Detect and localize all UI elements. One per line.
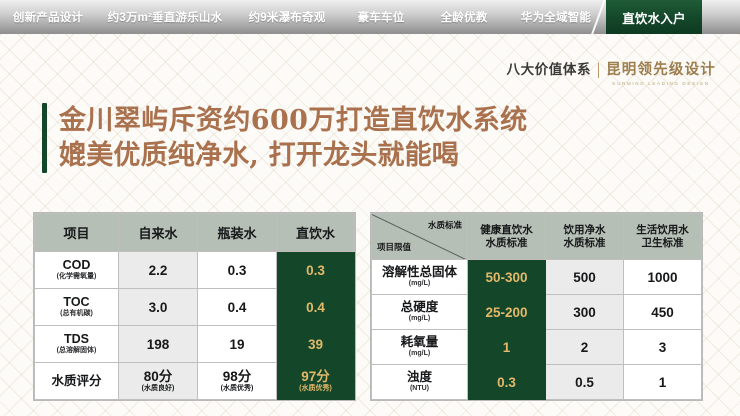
row-label-score: 水质评分 [35,363,119,400]
cell-value: 39 [308,337,323,352]
cell-value: 98分 [223,369,252,384]
row-label-sub: (mg/L) [374,279,465,289]
headline-line-1: 金川翠屿斥资约600万打造直饮水系统 [59,103,528,138]
cell-turbidity-healthy: 0.3 [468,365,546,400]
header-line-1: 健康直饮水 [470,224,543,237]
brand-value-system-label: 八大价值体系 [506,62,591,78]
brand-design-block: 昆明领先级设计 KUNMING LEADING DESIGN [606,62,716,86]
table-row: 耗氧量 (mg/L) 1 2 3 [372,330,702,365]
row-label-oxygen-consumption: 耗氧量 (mg/L) [372,330,468,365]
tab-label: 创新产品设计 [13,9,83,25]
tab-quanling-youjiao[interactable]: 全龄优教 [422,0,506,34]
cell-cod-direct: 0.3 [277,252,355,289]
cell-turbidity-purified: 0.5 [546,365,624,400]
row-label-main: TOC [63,295,89,309]
cell-tds-healthy: 50-300 [468,260,546,295]
row-label-toc: TOC (总有机碳) [35,289,119,326]
row-label-sub: (总溶解固体) [37,346,116,356]
slide-root: 创新产品设计 约3万m²垂直游乐山水 约9米瀑布奇观 豪车车位 全龄优教 华为全… [0,0,740,416]
tab-label: 豪车车位 [358,9,405,25]
row-label-sub: (mg/L) [374,314,465,324]
tab-label: 约3万m²垂直游乐山水 [108,9,223,25]
cell-toc-bottled: 0.4 [198,289,277,326]
cell-tds-purified: 500 [546,260,624,295]
row-label-sub: (化学需氧量) [37,272,116,282]
table-row: 溶解性总固体 (mg/L) 50-300 500 1000 [372,260,702,295]
cell-value-sub: (水质良好) [121,384,195,394]
feature-tab-bar: 创新产品设计 约3万m²垂直游乐山水 约9米瀑布奇观 豪车车位 全龄优教 华为全… [0,0,740,34]
row-label-main: TDS [64,332,89,346]
tab-label: 全龄优教 [441,9,488,25]
row-label-main: 溶解性总固体 [382,265,457,279]
corner-header-cell: 水质标准 项目限值 [372,214,468,260]
cell-tds-domestic: 1000 [624,260,702,295]
row-label-main: 水质评分 [51,374,101,388]
cell-value: 0.4 [306,300,325,315]
tab-zhiyinshui-rushu[interactable]: 直饮水入户 [606,0,702,34]
cell-value: 0.3 [497,375,516,390]
tab-huawei-quanyu-zhineng[interactable]: 华为全域智能 [506,0,606,34]
corner-header-bottom-left: 项目限值 [377,241,411,254]
col-header-direct-drink-water: 直饮水 [277,214,355,252]
cell-toc-tap: 3.0 [119,289,198,326]
corner-header-top-right: 水质标准 [428,219,462,232]
brand-design-en: KUNMING LEADING DESIGN [612,81,709,86]
row-label-main: 总硬度 [401,300,439,314]
tab-chuangxin-chanpin-sheji[interactable]: 创新产品设计 [0,0,96,34]
cell-hardness-purified: 300 [546,295,624,330]
cell-value: 300 [573,305,596,320]
cell-score-bottled: 98分 (水质优秀) [198,363,277,400]
row-label-tds: TDS (总溶解固体) [35,326,119,363]
cell-cod-bottled: 0.3 [198,252,277,289]
cell-value: 198 [147,337,170,352]
col-header-item: 项目 [35,214,119,252]
cell-score-direct: 97分 (水质优秀) [277,363,355,400]
cell-value-sub: (水质优秀) [279,384,352,394]
row-label-sub: (总有机碳) [37,309,116,319]
cell-value: 80分 [144,369,173,384]
cell-cod-tap: 2.2 [119,252,198,289]
row-label-hardness: 总硬度 (mg/L) [372,295,468,330]
headline-accent-bar [42,103,47,173]
table-header-row: 项目 自来水 瓶装水 直饮水 [35,214,355,252]
cell-value: 0.3 [306,263,325,278]
cell-value: 1 [659,375,667,390]
cell-value: 3 [659,340,667,355]
headline-text: 金川翠屿斥资约600万打造直饮水系统 媲美优质纯净水, 打开龙头就能喝 [59,103,528,173]
cell-tds-bottled: 19 [198,326,277,363]
row-label-main: 耗氧量 [401,335,439,349]
table-row: 水质评分 80分 (水质良好) 98分 (水质优秀) 97分 (水质优秀) [35,363,355,400]
cell-hardness-domestic: 450 [624,295,702,330]
tab-haoche-chewei[interactable]: 豪车车位 [340,0,422,34]
cell-value: 2.2 [149,263,168,278]
row-label-turbidity: 浊度 (NTU) [372,365,468,400]
header-line-2: 水质标准 [470,237,543,250]
row-label-cod: COD (化学需氧量) [35,252,119,289]
row-label-sub: (NTU) [374,384,465,394]
cell-value: 450 [651,305,674,320]
col-header-domestic-standard: 生活饮用水 卫生标准 [624,214,702,260]
row-label-main: 浊度 [407,370,432,384]
tab-chuizhi-youle-shanshui[interactable]: 约3万m²垂直游乐山水 [96,0,234,34]
col-header-bottled-water: 瓶装水 [198,214,277,252]
col-header-healthy-direct-standard: 健康直饮水 水质标准 [468,214,546,260]
tab-label: 直饮水入户 [622,8,686,27]
cell-value-sub: (水质优秀) [200,384,274,394]
header-line-1: 生活饮用水 [626,224,699,237]
table-row: TOC (总有机碳) 3.0 0.4 0.4 [35,289,355,326]
headline-line-2: 媲美优质纯净水, 打开龙头就能喝 [59,138,528,173]
table-row: TDS (总溶解固体) 198 19 39 [35,326,355,363]
water-comparison-table: 项目 自来水 瓶装水 直饮水 COD (化学需氧量) 2.2 0.3 [34,213,355,400]
cell-value: 50-300 [485,270,527,285]
headline-block: 金川翠屿斥资约600万打造直饮水系统 媲美优质纯净水, 打开龙头就能喝 [42,103,528,173]
header-line-2: 卫生标准 [626,237,699,250]
cell-value: 3.0 [149,300,168,315]
tab-pubu-qiguan[interactable]: 约9米瀑布奇观 [234,0,340,34]
cell-value: 500 [573,270,596,285]
cell-value: 25-200 [485,305,527,320]
header-line-2: 水质标准 [548,237,621,250]
row-label-sub: (mg/L) [374,349,465,359]
cell-tds-direct: 39 [277,326,355,363]
cell-oxygen-domestic: 3 [624,330,702,365]
tab-buzhuanqian-wuye[interactable]: 不赚钱物业 [702,0,740,34]
cell-turbidity-domestic: 1 [624,365,702,400]
cell-value: 0.5 [575,375,594,390]
brand-lockup: 八大价值体系 昆明领先级设计 KUNMING LEADING DESIGN [506,62,716,86]
row-label-tds-total: 溶解性总固体 (mg/L) [372,260,468,295]
row-label-main: COD [63,258,91,272]
col-header-purified-standard: 饮用净水 水质标准 [546,214,624,260]
cell-value: 0.4 [228,300,247,315]
cell-value: 97分 [301,369,330,384]
table-row: 浊度 (NTU) 0.3 0.5 1 [372,365,702,400]
cell-tds-tap: 198 [119,326,198,363]
brand-design-cn: 昆明领先级设计 [606,62,716,78]
cell-oxygen-healthy: 1 [468,330,546,365]
brand-divider [598,63,599,78]
col-header-tap-water: 自来水 [119,214,198,252]
cell-value: 1 [503,340,511,355]
table-row: 总硬度 (mg/L) 25-200 300 450 [372,295,702,330]
table-row: COD (化学需氧量) 2.2 0.3 0.3 [35,252,355,289]
cell-value: 0.3 [228,263,247,278]
cell-value: 19 [229,337,244,352]
cell-value: 1000 [647,270,677,285]
cell-score-tap: 80分 (水质良好) [119,363,198,400]
cell-hardness-healthy: 25-200 [468,295,546,330]
cell-value: 2 [581,340,589,355]
tab-label: 华为全域智能 [521,9,591,25]
cell-oxygen-purified: 2 [546,330,624,365]
tables-container: 项目 自来水 瓶装水 直饮水 COD (化学需氧量) 2.2 0.3 [34,213,710,400]
table-header-row: 水质标准 项目限值 健康直饮水 水质标准 饮用净水 水质标准 生活饮用水 卫生标… [372,214,702,260]
water-standard-table: 水质标准 项目限值 健康直饮水 水质标准 饮用净水 水质标准 生活饮用水 卫生标… [371,213,702,400]
cell-toc-direct: 0.4 [277,289,355,326]
header-line-1: 饮用净水 [548,224,621,237]
tab-label: 约9米瀑布奇观 [249,9,326,25]
